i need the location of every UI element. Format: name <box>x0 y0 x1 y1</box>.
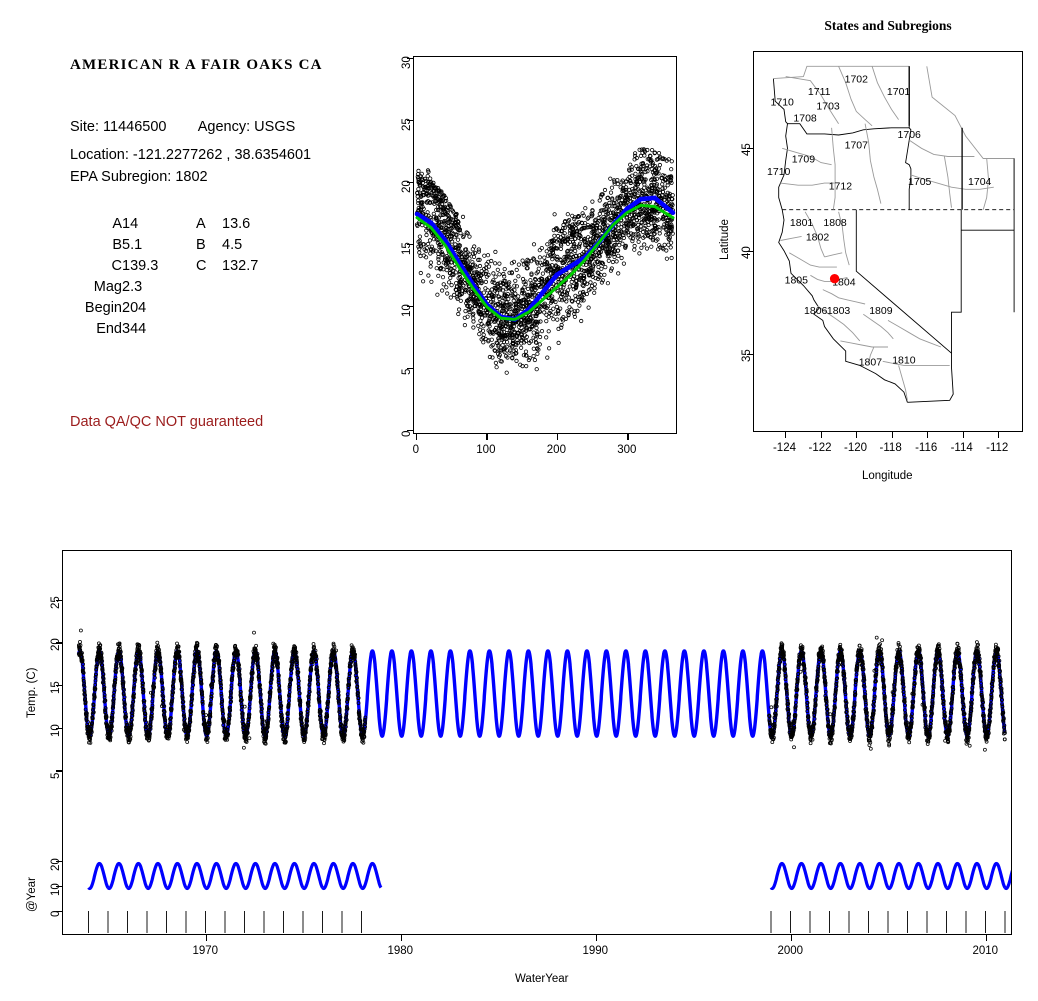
param-label: C <box>70 258 122 279</box>
x-tick-label: 200 <box>547 444 566 456</box>
map-x-tick-label: -112 <box>986 442 1008 454</box>
y-tick-label: 25 <box>401 118 413 131</box>
year-cycle-curve <box>908 864 928 889</box>
year-cycle-curve <box>771 864 791 889</box>
table-row: Begin 204 <box>70 300 258 321</box>
year-cycle-curve <box>888 864 908 889</box>
time-series-plot <box>62 550 1012 935</box>
map-canvas: 1701170217031704170517061707170817091710… <box>754 52 1022 431</box>
year-cycle-curve <box>849 864 869 889</box>
site-id-label: Site: 11446500 <box>70 119 166 135</box>
param-value-2 <box>222 300 258 321</box>
param-label-2 <box>196 300 222 321</box>
year-cycle-curve <box>206 864 226 889</box>
axis-tick <box>416 434 417 440</box>
param-label: B <box>70 237 122 258</box>
subregion-label-1711: 1711 <box>808 86 831 98</box>
ts-x-tick-label: 1970 <box>193 945 219 957</box>
state-boundary <box>773 79 907 403</box>
param-label: Mag <box>70 279 122 300</box>
site-marker <box>830 275 838 283</box>
param-value: 139.3 <box>122 258 196 279</box>
x-tick-label: 0 <box>413 444 419 456</box>
axis-tick <box>627 434 628 440</box>
subregion-label-1710: 1710 <box>767 166 791 178</box>
y-tick-label: 10 <box>401 304 413 317</box>
subregion-boundary <box>780 236 801 240</box>
year-cycle-curve <box>791 864 811 889</box>
subregion-label-1708: 1708 <box>793 113 817 125</box>
subregion-label-1810: 1810 <box>892 354 916 366</box>
param-label-2: A <box>196 216 222 237</box>
subregion-boundary <box>899 365 908 400</box>
subregion-boundary <box>944 157 951 208</box>
ts-y-tick-label: 25 <box>50 596 62 609</box>
year-cycle-curve <box>225 864 245 889</box>
map-x-tick-label: -120 <box>844 442 867 454</box>
inset-y-axis-title: @Year <box>26 877 38 912</box>
map-x-tick-label: -124 <box>773 442 796 454</box>
year-cycle-curve <box>128 864 148 889</box>
axis-tick <box>892 432 893 438</box>
param-value-2 <box>222 279 258 300</box>
x-tick-label: 100 <box>476 444 495 456</box>
subregion-boundary <box>825 253 843 257</box>
subregion-boundary <box>840 341 888 347</box>
map-y-tick-label: 35 <box>741 349 753 362</box>
year-cycle-curve <box>89 864 109 889</box>
inset-y-tick-label: 0 <box>50 911 62 917</box>
param-label-2: B <box>196 237 222 258</box>
param-value-2 <box>222 321 258 342</box>
table-row: C 139.3 C 132.7 <box>70 258 258 279</box>
ts-y-tick-label: 5 <box>50 773 62 779</box>
inset-y-tick-label: 10 <box>50 883 62 896</box>
subregion-label-1803: 1803 <box>827 305 851 317</box>
y-tick-label: 15 <box>401 242 413 255</box>
year-cycle-curve <box>927 864 947 889</box>
param-label-2 <box>196 279 222 300</box>
year-cycle-curve <box>264 864 284 889</box>
subregion-label-1706: 1706 <box>898 129 922 141</box>
time-series-canvas <box>63 551 1011 934</box>
parameter-table: A 14 A 13.6 B 5.1 B 4.5 C 139.3 C 132.7 … <box>70 216 258 342</box>
map-y-tick-label: 40 <box>741 246 753 259</box>
param-value: 204 <box>122 300 196 321</box>
epa-subregion-label: EPA Subregion: 1802 <box>70 169 208 185</box>
subregion-label-1701: 1701 <box>887 86 911 98</box>
map-title: States and Subregions <box>753 18 1023 34</box>
year-cycle-curve <box>342 864 362 889</box>
ts-x-tick-label: 1980 <box>388 945 414 957</box>
param-value-2: 4.5 <box>222 237 258 258</box>
subregion-label-1801: 1801 <box>790 217 814 229</box>
seasonal-scatter-plot <box>413 56 677 434</box>
map-x-tick-label: -114 <box>951 442 973 454</box>
y-tick-label: 5 <box>401 369 413 375</box>
ts-x-tick-label: 2000 <box>778 945 804 957</box>
subregion-label-1704: 1704 <box>968 176 992 188</box>
axis-tick <box>791 935 792 941</box>
year-cycle-curve <box>284 864 304 889</box>
axis-tick <box>986 935 987 941</box>
states-subregions-map: 1701170217031704170517061707170817091710… <box>753 51 1023 432</box>
subregion-boundary <box>909 140 974 156</box>
ts-y-tick-label: 20 <box>50 639 62 652</box>
subregion-label-1712: 1712 <box>829 180 853 192</box>
y-tick-label: 20 <box>401 180 413 193</box>
subregion-label-1709: 1709 <box>792 154 816 166</box>
seasonal-scatter-canvas <box>414 57 676 433</box>
year-cycle-curve <box>966 864 986 889</box>
subregion-label-1702: 1702 <box>845 74 869 86</box>
axis-tick <box>401 935 402 941</box>
year-cycle-curve <box>303 864 323 889</box>
year-cycle-curve <box>245 864 265 889</box>
year-cycle-curve <box>830 864 850 889</box>
axis-tick <box>486 434 487 440</box>
subregion-label-1710: 1710 <box>771 96 795 108</box>
table-row: B 5.1 B 4.5 <box>70 237 258 258</box>
axis-tick <box>856 432 857 438</box>
map-y-axis-title: Latitude <box>719 219 731 260</box>
subregion-label-1808: 1808 <box>823 217 847 229</box>
x-tick-label: 300 <box>617 444 636 456</box>
param-label-2 <box>196 321 222 342</box>
subregion-label-1809: 1809 <box>869 305 893 317</box>
subregion-boundary <box>863 314 893 339</box>
year-cycle-curve <box>323 864 343 889</box>
param-label-2: C <box>196 258 222 279</box>
site-agency-line: Site: 11446500 Agency: USGS <box>70 119 295 135</box>
ts-x-tick-label: 2010 <box>973 945 999 957</box>
map-x-tick-label: -122 <box>809 442 832 454</box>
y-tick-label: 0 <box>401 431 413 437</box>
param-value: 344 <box>122 321 196 342</box>
year-cycle-curve <box>108 864 128 889</box>
year-cycle-curve <box>186 864 206 889</box>
subregion-boundary <box>865 124 881 204</box>
ts-y-tick-label: 15 <box>50 681 62 694</box>
param-value: 14 <box>122 216 196 237</box>
subregion-boundary <box>789 253 837 267</box>
year-cycle-curve <box>147 864 167 889</box>
year-cycle-curve <box>362 864 382 889</box>
axis-tick <box>206 935 207 941</box>
param-value-2: 132.7 <box>222 258 258 279</box>
axis-tick <box>821 432 822 438</box>
year-cycle-curve <box>167 864 187 889</box>
year-cycle-curve <box>810 864 830 889</box>
axis-tick <box>785 432 786 438</box>
param-label: Begin <box>70 300 122 321</box>
axis-tick <box>596 935 597 941</box>
axis-tick <box>963 432 964 438</box>
map-y-tick-label: 45 <box>741 143 753 156</box>
param-label: End <box>70 321 122 342</box>
at-year-inset-series <box>89 864 1012 934</box>
table-row: A 14 A 13.6 <box>70 216 258 237</box>
year-cycle-curve <box>986 864 1006 889</box>
subregion-label-1806: 1806 <box>804 305 828 317</box>
axis-tick <box>56 770 62 771</box>
location-label: Location: -121.2277262 , 38.6354601 <box>70 147 311 163</box>
subregion-label-1703: 1703 <box>816 100 840 112</box>
ts-y-tick-label: 10 <box>50 724 62 737</box>
table-row: Mag 2.3 <box>70 279 258 300</box>
agency-label: Agency: USGS <box>198 119 296 135</box>
axis-tick <box>927 432 928 438</box>
subregion-boundary <box>823 290 865 304</box>
subregion-boundary <box>780 183 835 185</box>
axis-tick <box>998 432 999 438</box>
ts-y-axis-title: Temp. (C) <box>26 668 38 718</box>
ts-x-tick-label: 1990 <box>583 945 609 957</box>
axis-tick <box>557 434 558 440</box>
subregion-boundary <box>832 128 836 210</box>
map-x-tick-label: -116 <box>915 442 937 454</box>
year-cycle-curve <box>947 864 967 889</box>
param-label: A <box>70 216 122 237</box>
year-cycle-curve <box>1005 864 1011 889</box>
subregion-label-1705: 1705 <box>908 176 932 188</box>
inset-y-tick-label: 20 <box>50 858 62 871</box>
map-x-axis-title: Longitude <box>862 470 913 482</box>
year-cycle-curve <box>869 864 889 889</box>
state-boundary <box>788 124 910 135</box>
map-x-tick-label: -118 <box>880 442 902 454</box>
subregion-label-1807: 1807 <box>859 356 883 368</box>
subregion-label-1805: 1805 <box>785 275 809 287</box>
subregion-boundary <box>888 320 941 347</box>
param-value: 5.1 <box>122 237 196 258</box>
qaqc-warning: Data QA/QC NOT guaranteed <box>70 414 263 430</box>
param-value: 2.3 <box>122 279 196 300</box>
subregion-label-1707: 1707 <box>845 139 869 151</box>
page-title: AMERICAN R A FAIR OAKS CA <box>70 57 323 74</box>
subregion-label-1802: 1802 <box>806 232 830 244</box>
y-tick-label: 30 <box>401 56 413 69</box>
state-boundary <box>952 210 962 354</box>
ts-x-axis-title: WaterYear <box>515 973 568 985</box>
param-value-2: 13.6 <box>222 216 258 237</box>
table-row: End 344 <box>70 321 258 342</box>
